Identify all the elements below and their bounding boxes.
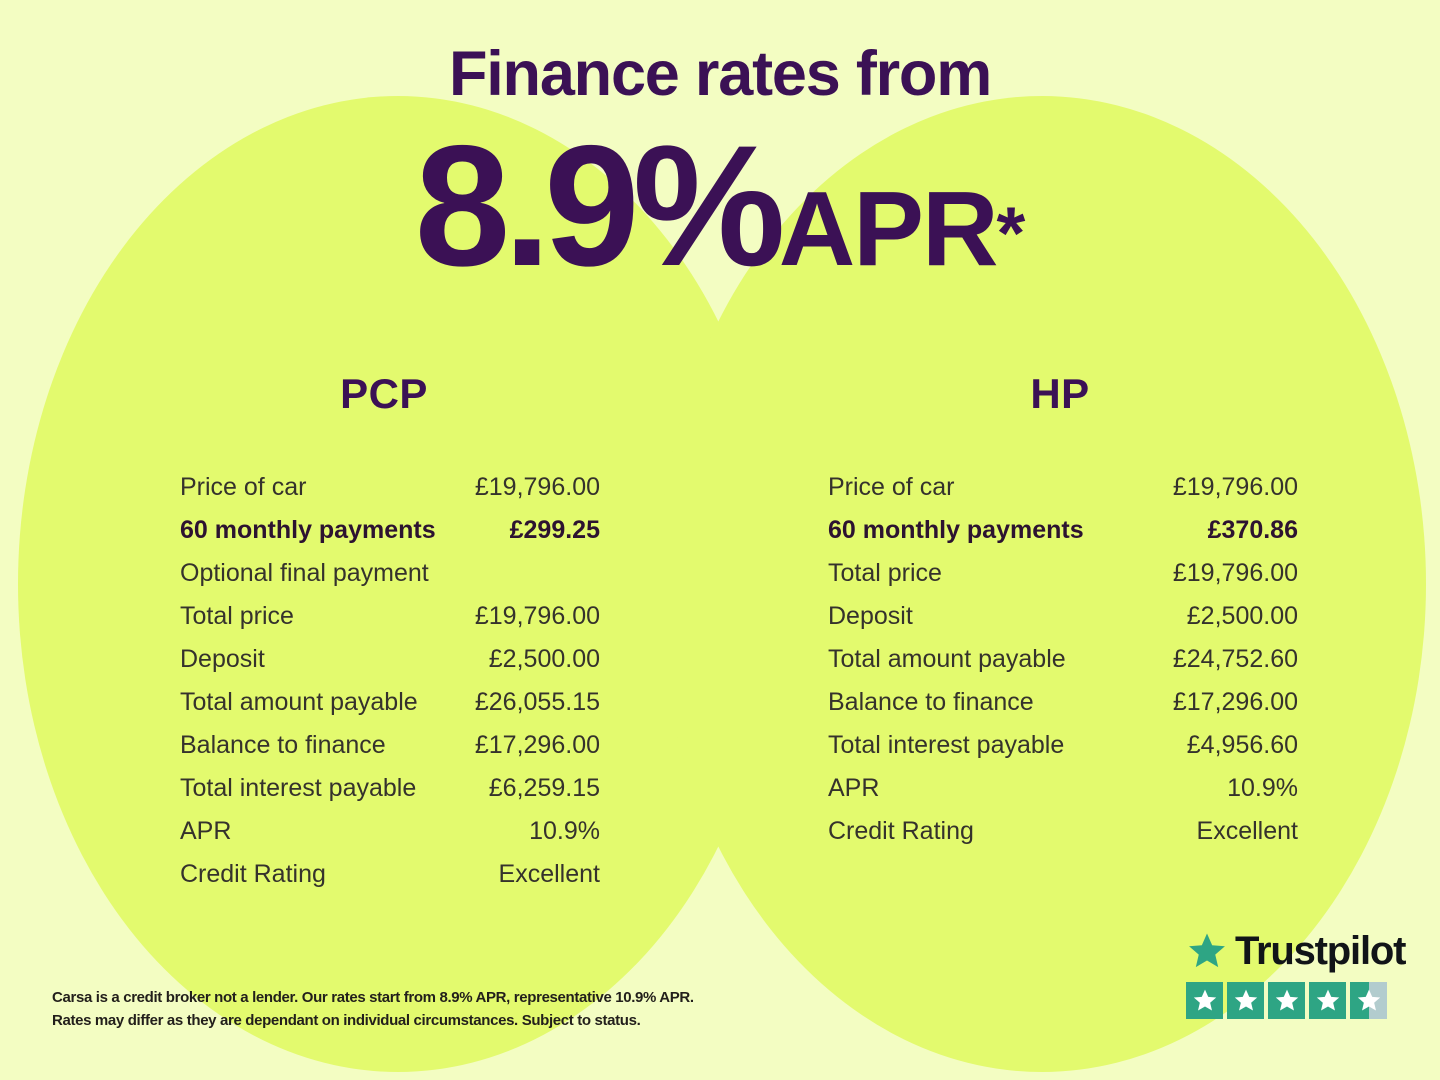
row-value: Excellent (1197, 810, 1298, 853)
apr-headline: 8.9%APR* (0, 120, 1440, 292)
table-row: Deposit£2,500.00 (180, 638, 600, 681)
content-layer: Finance rates from 8.9%APR* PCP Price of… (0, 0, 1440, 1080)
table-row: 60 monthly payments£299.25 (180, 509, 600, 552)
finance-table-pcp: Price of car£19,796.0060 monthly payment… (180, 466, 600, 896)
trustpilot-star-half (1350, 982, 1387, 1019)
apr-asterisk: * (997, 192, 1026, 275)
trustpilot-badge[interactable]: Trustpilot (1186, 928, 1392, 1019)
row-value: £19,796.00 (475, 595, 600, 638)
table-row: Balance to finance£17,296.00 (828, 681, 1298, 724)
trustpilot-star-filled (1309, 982, 1346, 1019)
table-row: Total interest payable£6,259.15 (180, 767, 600, 810)
row-value: Excellent (499, 853, 600, 896)
row-label: Credit Rating (180, 853, 326, 896)
table-row: Credit RatingExcellent (828, 810, 1298, 853)
row-value: £17,296.00 (475, 724, 600, 767)
row-value: £2,500.00 (489, 638, 600, 681)
row-label: Price of car (180, 466, 306, 509)
row-value: £24,752.60 (1173, 638, 1298, 681)
apr-rate-value: 8.9% (415, 110, 779, 302)
row-label: Balance to finance (180, 724, 386, 767)
row-value: £6,259.15 (489, 767, 600, 810)
row-label: Price of car (828, 466, 954, 509)
row-value: £2,500.00 (1187, 595, 1298, 638)
table-row: Total amount payable£26,055.15 (180, 681, 600, 724)
trustpilot-star-filled (1268, 982, 1305, 1019)
column-title-hp: HP (822, 370, 1298, 418)
row-label: Total price (828, 552, 942, 595)
row-label: Total amount payable (180, 681, 418, 724)
table-row: Credit RatingExcellent (180, 853, 600, 896)
table-row: Price of car£19,796.00 (180, 466, 600, 509)
row-label: Total interest payable (180, 767, 416, 810)
row-label: Optional final payment (180, 552, 429, 595)
table-row: Total price£19,796.00 (180, 595, 600, 638)
trustpilot-logo: Trustpilot (1186, 928, 1392, 974)
row-value: £19,796.00 (475, 466, 600, 509)
table-row: APR10.9% (828, 767, 1298, 810)
row-value: 10.9% (529, 810, 600, 853)
table-row: Total amount payable£24,752.60 (828, 638, 1298, 681)
row-value: £19,796.00 (1173, 552, 1298, 595)
row-label: 60 monthly payments (180, 509, 436, 552)
apr-rate-unit: APR (779, 170, 997, 288)
row-label: Deposit (828, 595, 913, 638)
row-label: Total amount payable (828, 638, 1066, 681)
finance-comparison: PCP Price of car£19,796.0060 monthly pay… (0, 370, 1440, 896)
disclaimer-text: Carsa is a credit broker not a lender. O… (52, 986, 812, 1033)
table-row: Deposit£2,500.00 (828, 595, 1298, 638)
row-label: Balance to finance (828, 681, 1034, 724)
row-label: 60 monthly payments (828, 509, 1084, 552)
trustpilot-wordmark: Trustpilot (1235, 931, 1405, 971)
row-value: £17,296.00 (1173, 681, 1298, 724)
row-label: Credit Rating (828, 810, 974, 853)
row-value: £4,956.60 (1187, 724, 1298, 767)
row-label: Total price (180, 595, 294, 638)
row-label: Deposit (180, 638, 265, 681)
table-row: Balance to finance£17,296.00 (180, 724, 600, 767)
page-title: Finance rates from (0, 38, 1440, 110)
row-value: 10.9% (1227, 767, 1298, 810)
promo-canvas: Finance rates from 8.9%APR* PCP Price of… (0, 0, 1440, 1080)
finance-column-pcp: PCP Price of car£19,796.0060 monthly pay… (0, 370, 720, 896)
trustpilot-rating-stars (1186, 982, 1392, 1019)
column-title-pcp: PCP (168, 370, 600, 418)
table-row: Total price£19,796.00 (828, 552, 1298, 595)
finance-table-hp: Price of car£19,796.0060 monthly payment… (828, 466, 1298, 853)
row-label: APR (180, 810, 231, 853)
row-value: £19,796.00 (1173, 466, 1298, 509)
disclaimer-line-1: Carsa is a credit broker not a lender. O… (52, 986, 812, 1009)
row-value: £299.25 (510, 509, 600, 552)
row-value: £370.86 (1208, 509, 1298, 552)
table-row: Total interest payable£4,956.60 (828, 724, 1298, 767)
table-row: Price of car£19,796.00 (828, 466, 1298, 509)
trustpilot-star-filled (1186, 982, 1223, 1019)
row-value: £26,055.15 (475, 681, 600, 724)
trustpilot-star-filled (1227, 982, 1264, 1019)
table-row: 60 monthly payments£370.86 (828, 509, 1298, 552)
disclaimer-line-2: Rates may differ as they are dependant o… (52, 1009, 812, 1032)
finance-column-hp: HP Price of car£19,796.0060 monthly paym… (720, 370, 1440, 896)
row-label: Total interest payable (828, 724, 1064, 767)
row-label: APR (828, 767, 879, 810)
table-row: Optional final payment (180, 552, 600, 595)
trustpilot-star-icon (1186, 931, 1228, 971)
table-row: APR10.9% (180, 810, 600, 853)
